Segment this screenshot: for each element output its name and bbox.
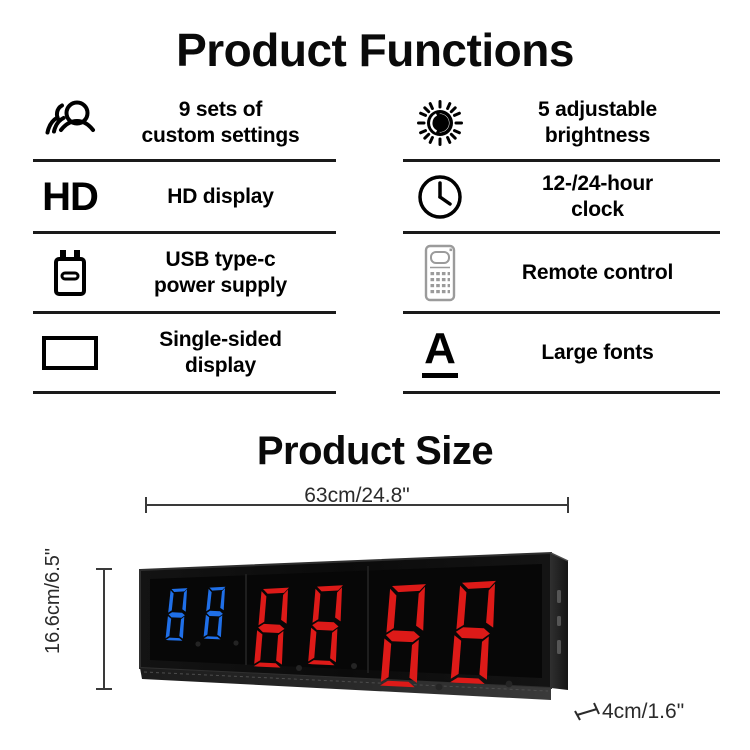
width-dimension-line <box>145 497 569 513</box>
product-functions-title: Product Functions <box>0 24 750 76</box>
feature-row-hd-display: HD HD display <box>33 162 336 234</box>
letter-a-glyph: A <box>422 327 458 378</box>
feature-label-line2: power supply <box>107 273 334 299</box>
usb-plug-icon <box>33 234 107 311</box>
feature-label-line1: Single-sided <box>159 328 281 351</box>
two-people-icon <box>33 86 107 159</box>
feature-label: 5 adjustable brightness <box>477 97 720 149</box>
feature-label: Large fonts <box>477 340 720 366</box>
feature-label-line2: custom settings <box>107 123 334 149</box>
feature-row-single-sided: Single-sided display <box>33 314 336 394</box>
rectangle-display-icon <box>33 314 107 391</box>
feature-column-right: 5 adjustable brightness 12-/24-hour cloc… <box>375 86 750 398</box>
product-size-title: Product Size <box>0 428 750 474</box>
led-clock-product-image <box>130 548 580 723</box>
width-dim-bar <box>145 504 569 506</box>
feature-label-line2: brightness <box>477 123 718 149</box>
feature-row-clock-format: 12-/24-hour clock <box>403 162 720 234</box>
feature-label: Single-sided display <box>107 327 336 379</box>
feature-label: Remote control <box>477 260 720 286</box>
feature-label-line1: Large fonts <box>541 341 653 364</box>
depth-dimension-group: 4cm/1.6" <box>574 700 684 724</box>
sun-icon <box>403 86 477 159</box>
feature-row-brightness: 5 adjustable brightness <box>403 86 720 162</box>
height-dim-bar <box>103 568 105 690</box>
feature-label-line1: 12-/24-hour <box>542 172 653 195</box>
height-dimension-label: 16.6cm/6.5" <box>42 526 64 676</box>
feature-label-line2: display <box>107 353 334 379</box>
feature-row-remote-control: Remote control <box>403 234 720 314</box>
feature-grid: 9 sets of custom settings HD HD display <box>0 86 750 398</box>
feature-label-line1: 9 sets of <box>179 98 262 121</box>
width-dim-cap-end <box>567 497 569 513</box>
feature-row-large-fonts: A Large fonts <box>403 314 720 394</box>
remote-control-icon <box>403 234 477 311</box>
hd-text-icon: HD <box>33 162 107 231</box>
clock-icon <box>403 162 477 231</box>
letter-a-icon: A <box>403 314 477 391</box>
feature-column-left: 9 sets of custom settings HD HD display <box>0 86 375 398</box>
feature-label: 9 sets of custom settings <box>107 97 336 149</box>
feature-label-line1: Remote control <box>522 261 673 284</box>
feature-label-line1: USB type-c <box>165 248 275 271</box>
feature-label-line1: 5 adjustable <box>538 98 657 121</box>
feature-row-usb-power: USB type-c power supply <box>33 234 336 314</box>
feature-label: HD display <box>107 184 336 210</box>
depth-dimension-label: 4cm/1.6" <box>602 700 684 724</box>
feature-label-line1: HD display <box>167 185 274 208</box>
height-dimension-line <box>96 568 112 690</box>
height-dim-cap-end <box>96 688 112 690</box>
feature-row-custom-settings: 9 sets of custom settings <box>33 86 336 162</box>
feature-label-line2: clock <box>477 197 718 223</box>
hd-icon-label: HD <box>42 177 98 217</box>
feature-label: 12-/24-hour clock <box>477 171 720 223</box>
feature-label: USB type-c power supply <box>107 247 336 299</box>
